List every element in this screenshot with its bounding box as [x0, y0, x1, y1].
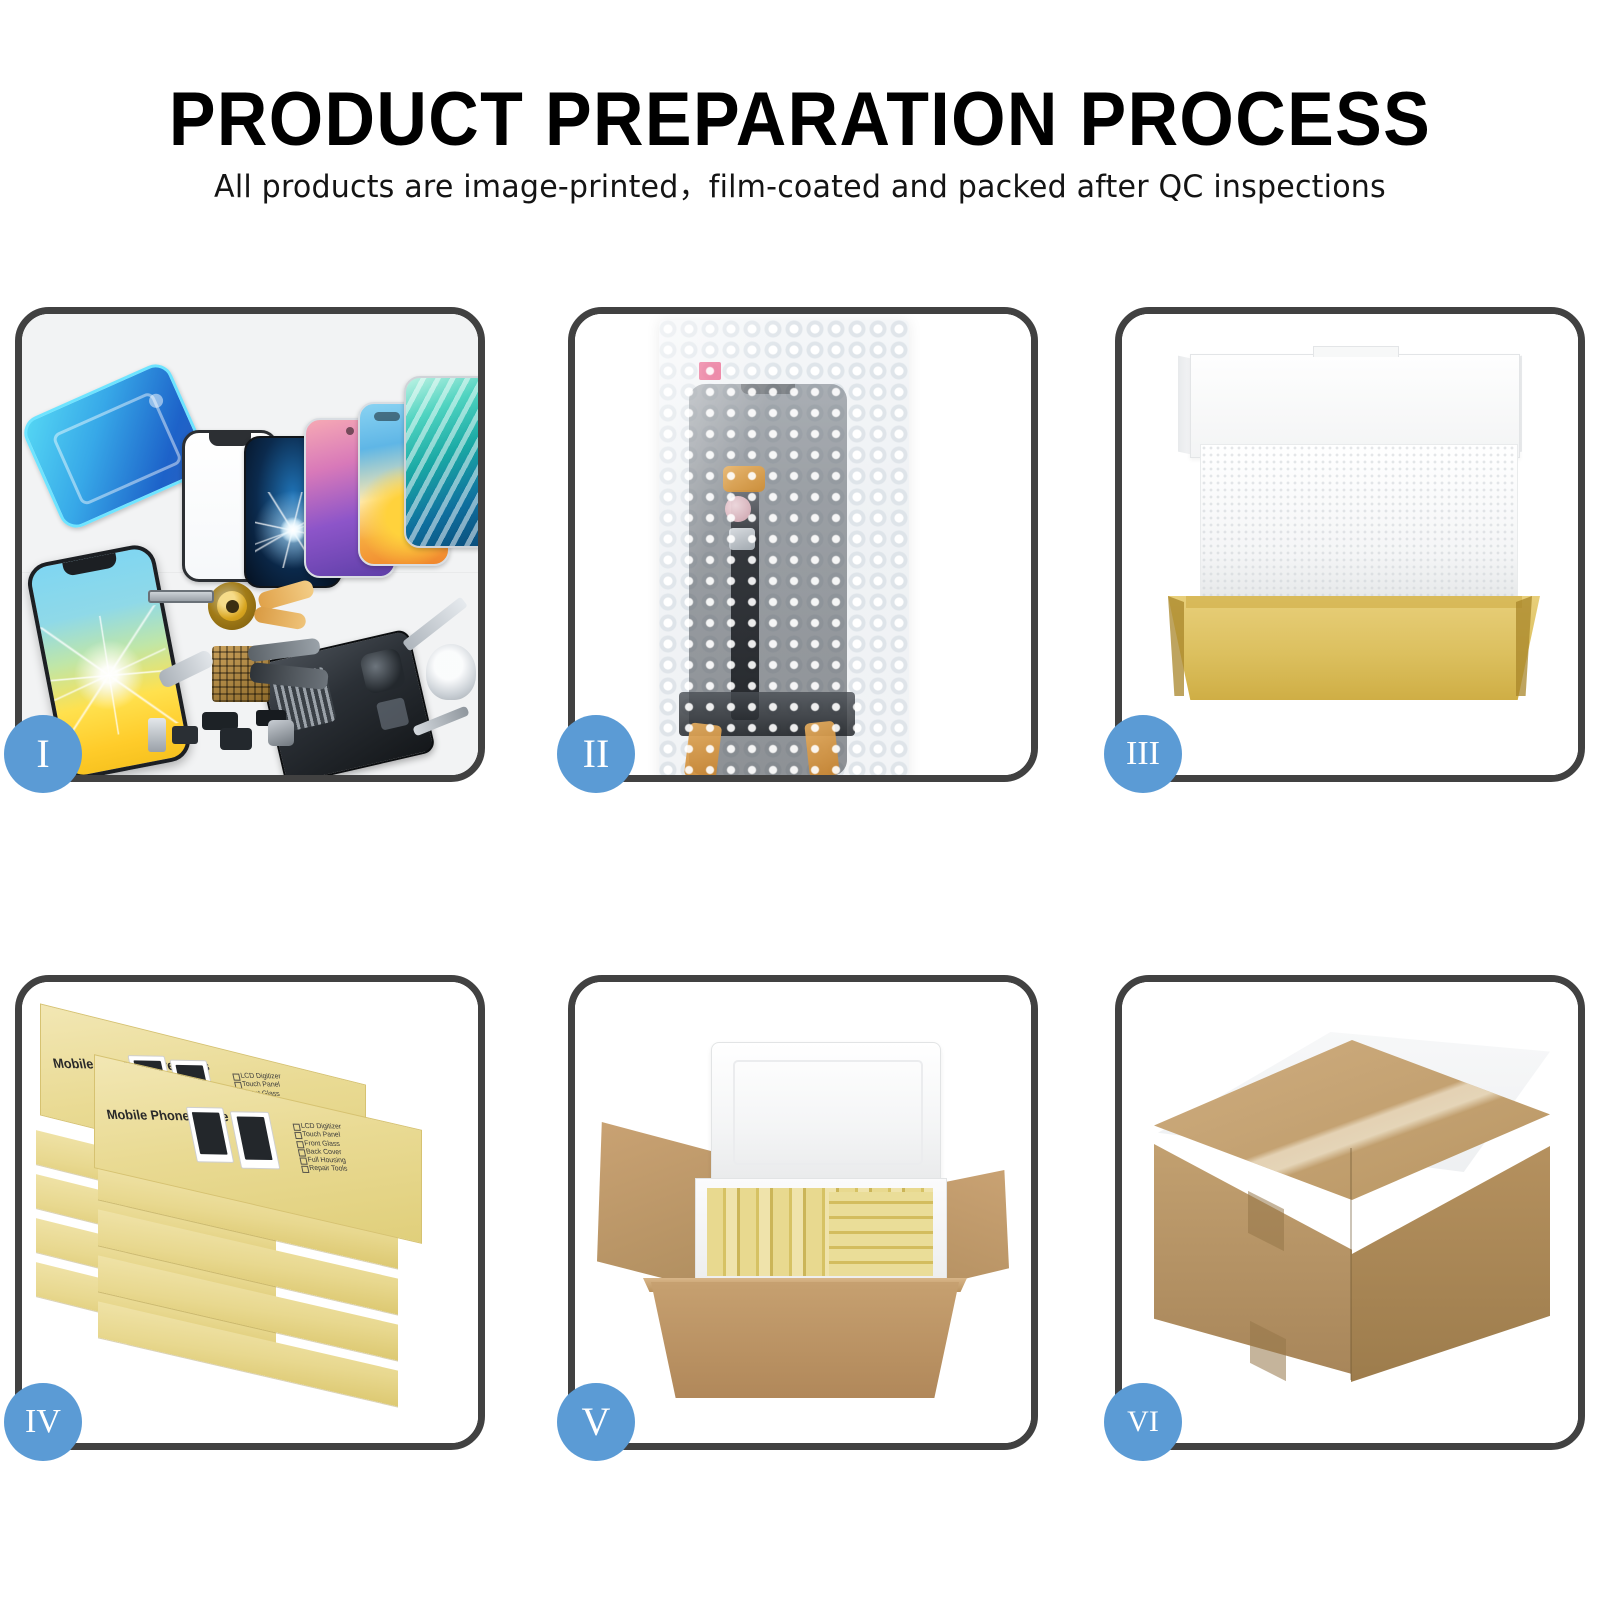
pink-qc-sticker	[699, 362, 721, 380]
wrapped-flex-cable	[731, 490, 759, 720]
spare-parts-collage-image	[22, 314, 478, 775]
carton-body	[651, 1282, 959, 1398]
packed-gold-boxes-block	[829, 1192, 933, 1276]
wrapped-connector-2	[725, 496, 751, 522]
small-module-part-3	[172, 726, 198, 744]
bubble-wrapped-screen-image	[575, 314, 1031, 775]
wireless-charging-coil-part	[208, 582, 256, 630]
mailer-tray-inner-edge	[1186, 596, 1522, 608]
retail-box-checklist-front: LCD Digitizer Touch Panel Front Glass Ba…	[292, 1123, 350, 1175]
sealed-shipping-carton-image	[1122, 982, 1578, 1443]
process-step-6[interactable]: VI	[1115, 975, 1585, 1450]
step-badge-3: III	[1104, 715, 1182, 793]
checklist-item: Repair Tools	[301, 1165, 351, 1174]
step-badge-1: I	[4, 715, 82, 793]
sim-tray-part	[148, 718, 166, 752]
sealed-carton-corner-seam	[1350, 1148, 1352, 1380]
process-step-4[interactable]: Mobile Phone Spare Parts LCD Digitizer T…	[15, 975, 485, 1450]
mailer-box-tray	[1168, 596, 1540, 700]
white-foam-sheet	[1200, 444, 1518, 598]
mailer-box-lid	[1190, 354, 1520, 458]
process-step-2[interactable]: II	[568, 307, 1038, 782]
cleaning-brush-tool	[426, 644, 476, 700]
small-module-part-2	[220, 728, 252, 750]
step-badge-4: IV	[4, 1383, 82, 1461]
connector-strip-part	[148, 590, 214, 603]
step-badge-5: V	[557, 1383, 635, 1461]
process-step-1[interactable]: I	[15, 307, 485, 782]
step-badge-2: II	[557, 715, 635, 793]
speaker-module-part	[268, 720, 294, 746]
wrapped-connector-1	[723, 466, 765, 492]
wrapped-tab-left	[684, 722, 722, 775]
teal-display-panel	[404, 376, 478, 548]
foam-lined-mailer-box-image	[1122, 314, 1578, 775]
foam-case-lid	[711, 1042, 941, 1184]
wrapped-connector-3	[729, 528, 755, 550]
retail-box-thumb-front-b	[230, 1111, 281, 1169]
foam-case-contents	[707, 1188, 933, 1276]
bubble-wrap-sheet	[659, 320, 909, 775]
process-step-3[interactable]: III	[1115, 307, 1585, 782]
retail-boxes-stack-image: Mobile Phone Spare Parts LCD Digitizer T…	[22, 982, 478, 1443]
wrapped-tab-right	[804, 721, 839, 775]
process-step-grid: I II	[0, 0, 1600, 1600]
step-badge-6: VI	[1104, 1383, 1182, 1461]
carton-with-foam-case-image	[575, 982, 1031, 1443]
process-step-5[interactable]: V	[568, 975, 1038, 1450]
